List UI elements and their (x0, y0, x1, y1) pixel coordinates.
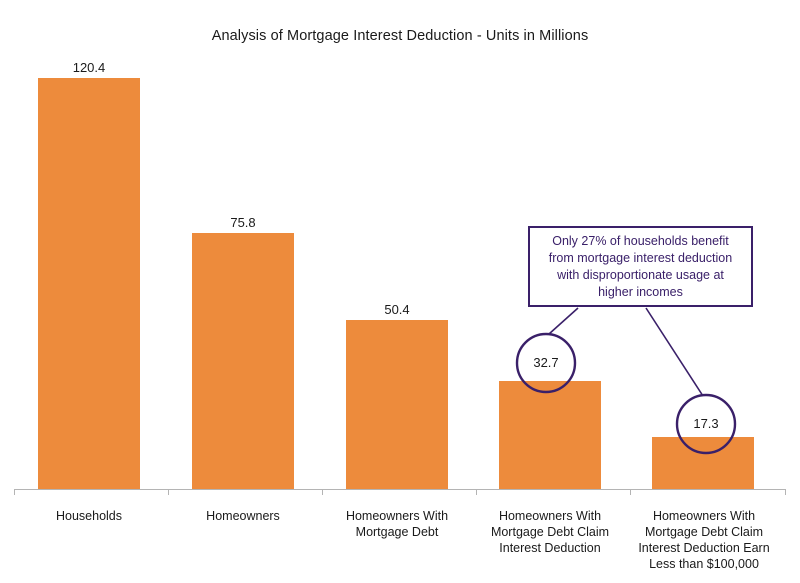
leader-line-to-32-7 (549, 308, 578, 334)
x-axis-category-label: Homeowners With Mortgage Debt (328, 508, 466, 540)
category-line: Households (22, 508, 156, 524)
category-line: Mortgage Debt Claim (628, 524, 780, 540)
callout-line: Only 27% of households benefit (549, 233, 732, 250)
category-line: Homeowners With (328, 508, 466, 524)
x-axis-tick (322, 489, 323, 495)
bar-homeowners-with-mortgage-debt[interactable] (346, 320, 448, 489)
highlighted-bar-value-label: 17.3 (676, 416, 736, 431)
x-axis-category-label: Homeowners (176, 508, 310, 524)
x-axis-tick (14, 489, 15, 495)
bar-homeowners-claim-under-100k[interactable] (652, 437, 754, 489)
highlighted-bar-value-label: 32.7 (516, 355, 576, 370)
category-line: Interest Deduction (476, 540, 624, 556)
category-line: Homeowners With (628, 508, 780, 524)
bar-value-label: 120.4 (38, 60, 140, 75)
callout-line: from mortgage interest deduction (549, 250, 732, 267)
category-line: Interest Deduction Earn (628, 540, 780, 556)
x-axis-category-label: Homeowners With Mortgage Debt Claim Inte… (628, 508, 780, 572)
callout-line: with disproportionate usage at (549, 267, 732, 284)
callout-line: higher incomes (549, 284, 732, 301)
bar-value-label: 75.8 (192, 215, 294, 230)
annotation-callout-box[interactable]: Only 27% of households benefit from mort… (528, 226, 753, 307)
x-axis-tick (476, 489, 477, 495)
category-line: Mortgage Debt Claim (476, 524, 624, 540)
leader-line-to-17-3 (646, 308, 703, 396)
annotation-callout-text: Only 27% of households benefit from mort… (543, 233, 738, 301)
bar-homeowners[interactable] (192, 233, 294, 489)
plot-area: 120.4 75.8 50.4 Households Homeowners Ho… (0, 0, 800, 583)
bar-chart-figure: Analysis of Mortgage Interest Deduction … (0, 0, 800, 583)
x-axis-tick (168, 489, 169, 495)
x-axis-tick (630, 489, 631, 495)
category-line: Homeowners With (476, 508, 624, 524)
category-line: Homeowners (176, 508, 310, 524)
x-axis-category-label: Homeowners With Mortgage Debt Claim Inte… (476, 508, 624, 556)
category-line: Mortgage Debt (328, 524, 466, 540)
bar-value-label: 50.4 (346, 302, 448, 317)
bar-households[interactable] (38, 78, 140, 489)
x-axis-category-label: Households (22, 508, 156, 524)
category-line: Less than $100,000 (628, 556, 780, 572)
x-axis-line (14, 489, 786, 490)
x-axis-tick (785, 489, 786, 495)
bar-homeowners-claim-interest-deduction[interactable] (499, 381, 601, 489)
